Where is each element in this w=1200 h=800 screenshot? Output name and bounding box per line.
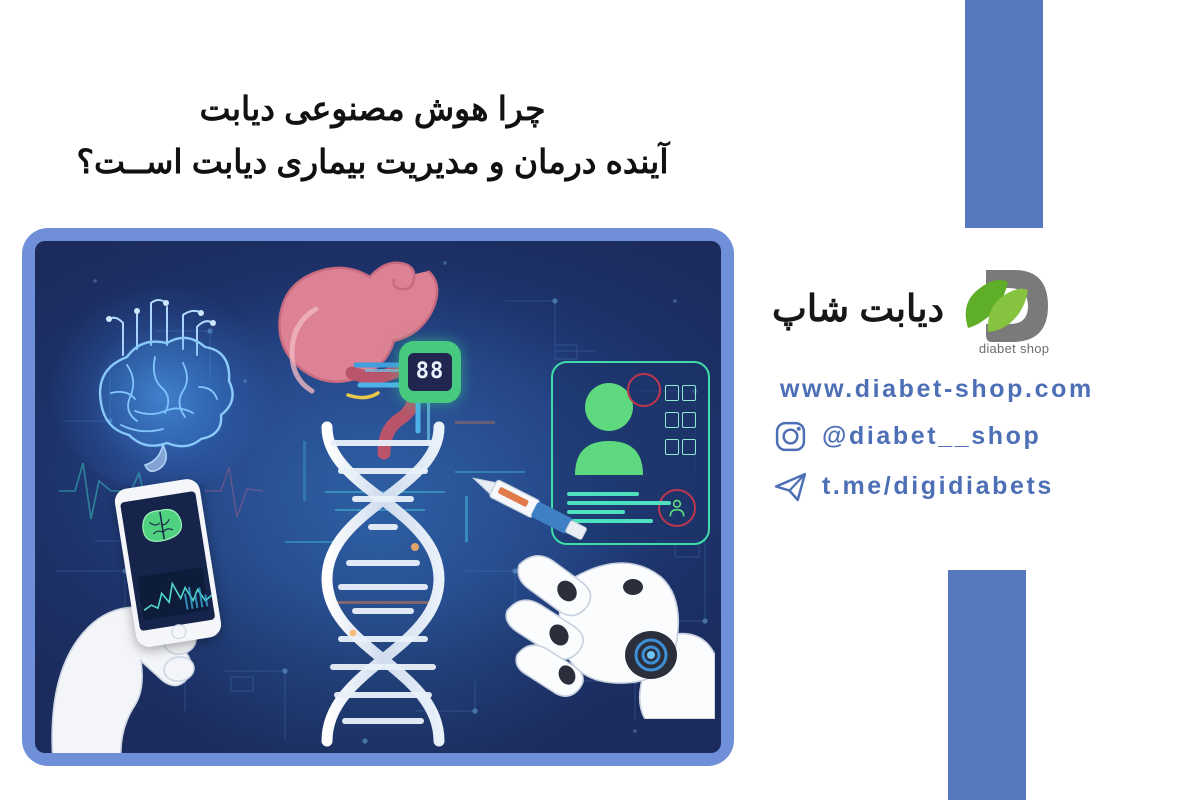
robotic-hand-with-syringe — [455, 469, 715, 719]
glucose-reading: 88 — [416, 361, 445, 383]
telegram-row[interactable]: t.me/digidiabets — [772, 468, 1182, 504]
website-url[interactable]: www.diabet-shop.com — [772, 375, 1094, 404]
diabet-shop-logo-icon: diabet shop — [952, 262, 1064, 354]
hand-with-smartphone — [47, 473, 262, 753]
instagram-handle[interactable]: @diabet__shop — [822, 422, 1041, 451]
instagram-row[interactable]: @diabet__shop — [772, 418, 1182, 454]
decorative-bar-bottom-right — [948, 570, 1026, 800]
ai-brain-icon — [71, 293, 256, 473]
illustration-frame: 88 — [22, 228, 734, 766]
phone-waveform-chart — [137, 567, 209, 621]
meter-lead-line-2 — [365, 369, 401, 372]
glucose-meter-screen: 88 — [408, 353, 452, 391]
page-title: چرا هوش مصنوعی دیابت آینده درمان و مدیری… — [0, 82, 745, 189]
headline-line-1: چرا هوش مصنوعی دیابت — [0, 82, 745, 135]
brand-block: دیابت شاپ diabet shop — [772, 262, 1172, 354]
brain-scan-icon — [138, 505, 187, 545]
telegram-link[interactable]: t.me/digidiabets — [822, 472, 1054, 501]
decorative-bar-top-right — [965, 0, 1043, 228]
illustration-image: 88 — [35, 241, 721, 753]
highlight-ring-head — [627, 373, 661, 407]
website-row[interactable]: www.diabet-shop.com — [772, 375, 1182, 404]
headline-line-2: آینده درمان و مدیریت بیماری دیابت اســت؟ — [0, 135, 745, 188]
contact-block: www.diabet-shop.com @diabet__shop t.me/d… — [772, 375, 1182, 518]
glucose-meter-icon: 88 — [399, 341, 461, 403]
brand-name-fa: دیابت شاپ — [772, 287, 944, 330]
phone-screen — [120, 491, 215, 631]
card-data-boxes — [665, 385, 696, 455]
telegram-icon[interactable] — [772, 468, 808, 504]
poster-canvas: چرا هوش مصنوعی دیابت آینده درمان و مدیری… — [0, 0, 1200, 800]
phone-home-button — [170, 623, 187, 640]
brand-name-en: diabet shop — [964, 341, 1064, 356]
robot-hand-icon — [455, 469, 715, 719]
dna-helix-icon — [293, 419, 473, 749]
instagram-icon[interactable] — [772, 418, 808, 454]
